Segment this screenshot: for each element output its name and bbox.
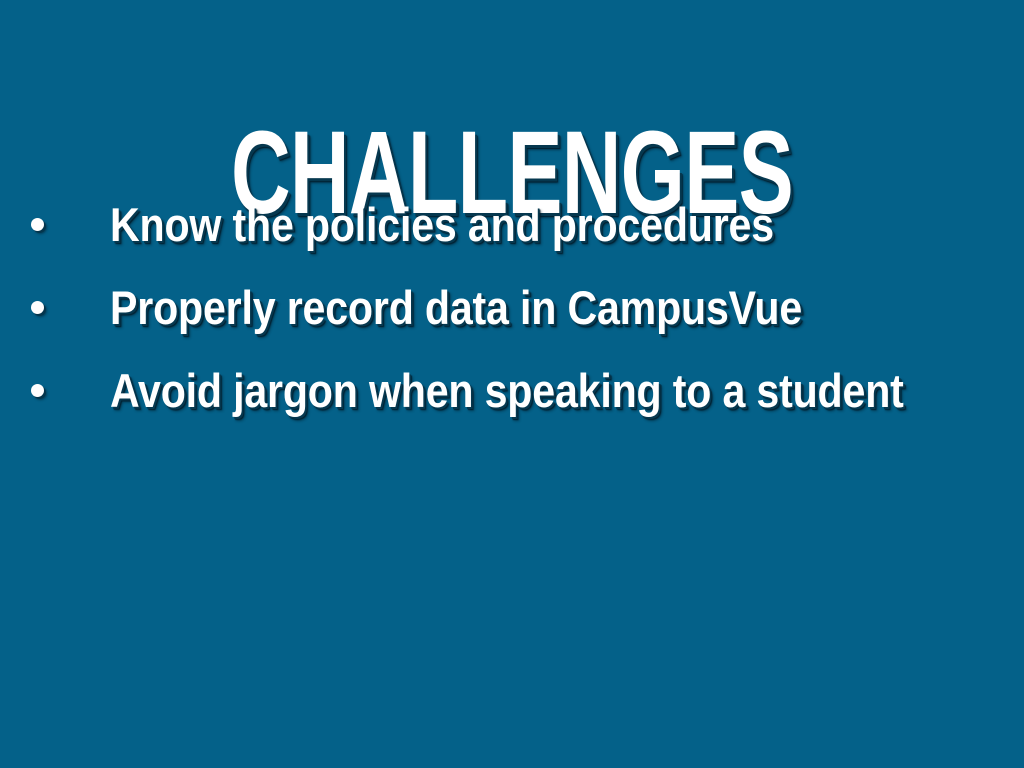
- bullet-list-item: Know the policies and procedures: [0, 196, 1024, 279]
- bullet-list: Know the policies and procedures Properl…: [0, 196, 1024, 445]
- bullet-item-text: Avoid jargon when speaking to a student: [110, 362, 904, 424]
- bullet-point-icon: [31, 301, 44, 314]
- bullet-list-item: Avoid jargon when speaking to a student: [0, 362, 1024, 445]
- bullet-item-text: Know the policies and procedures: [110, 196, 774, 258]
- bullet-list-item: Properly record data in CampusVue: [0, 279, 1024, 362]
- bullet-point-icon: [31, 384, 44, 397]
- bullet-item-text: Properly record data in CampusVue: [110, 279, 802, 341]
- presentation-slide: CHALLENGES Know the policies and procedu…: [0, 0, 1024, 768]
- bullet-point-icon: [31, 218, 44, 231]
